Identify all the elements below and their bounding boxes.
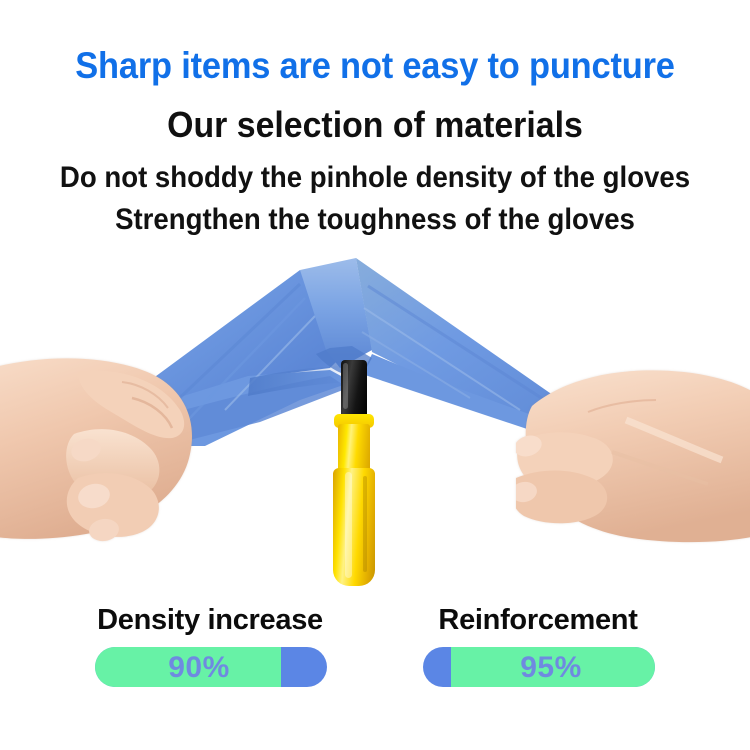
progress-bar-density: 90% xyxy=(95,647,327,687)
progress-bar-reinforcement: 95% xyxy=(423,647,655,687)
headline: Sharp items are not easy to puncture xyxy=(26,44,724,88)
metrics-section: Density increase 90% Reinforcement 95% xyxy=(0,600,750,750)
subheadline: Our selection of materials xyxy=(23,103,728,147)
tagline-secondary: Strengthen the toughness of the gloves xyxy=(30,200,720,240)
product-infographic-poster: Sharp items are not easy to puncture Our… xyxy=(0,0,750,750)
metric-label-reinforcement: Reinforcement xyxy=(378,600,698,640)
screwdriver-tip xyxy=(341,360,367,418)
progress-value-reinforcement: 95% xyxy=(435,647,655,687)
progress-value-density: 90% xyxy=(95,647,315,687)
screwdriver-neck xyxy=(338,424,370,472)
metric-label-density: Density increase xyxy=(50,600,370,640)
metric-density-increase: Density increase 90% xyxy=(50,600,370,720)
screwdriver xyxy=(332,360,376,580)
left-hand xyxy=(0,338,232,573)
right-hand xyxy=(516,342,750,577)
metric-reinforcement: Reinforcement 95% xyxy=(378,600,698,720)
product-photo xyxy=(0,250,750,600)
screwdriver-handle xyxy=(333,468,375,586)
tagline-primary: Do not shoddy the pinhole density of the… xyxy=(30,158,720,198)
